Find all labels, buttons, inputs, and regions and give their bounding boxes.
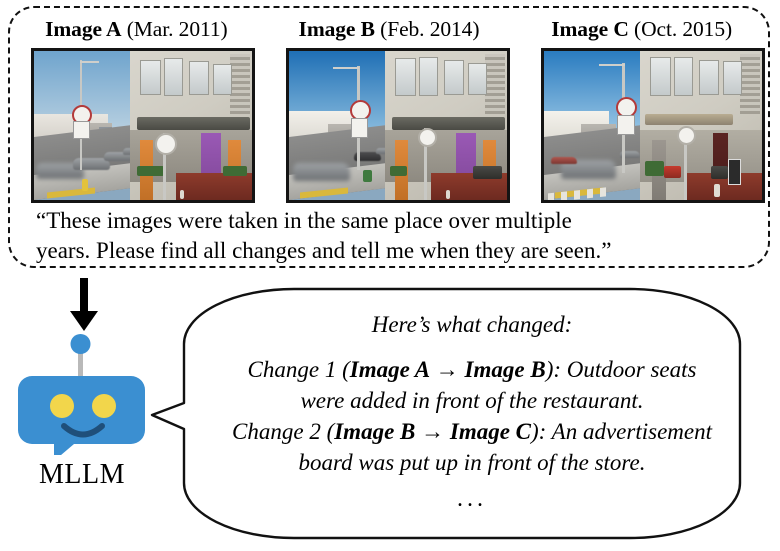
model-label: MLLM (12, 458, 152, 492)
change-2-to: Image C (450, 419, 531, 444)
image-caption-b-name: Image B (299, 17, 375, 41)
outdoor-seats-change (473, 166, 502, 179)
photo-image-c (541, 48, 765, 203)
answer-heading: Here’s what changed: (202, 309, 742, 340)
image-caption-b-date: (Feb. 2014) (380, 17, 479, 41)
change-1-from: Image A (350, 357, 430, 382)
image-caption-a-date: (Mar. 2011) (127, 17, 228, 41)
prompt-question: “These images were taken in the same pla… (36, 206, 748, 266)
image-caption-c-name: Image C (551, 17, 629, 41)
image-caption-c: Image C (Oct. 2015) (515, 16, 768, 42)
change-2-line-2: board was put up in front of the store. (202, 447, 742, 478)
change-2-from: Image B (334, 419, 415, 444)
change-1-arrow: → (436, 357, 459, 382)
robot-icon (12, 330, 152, 455)
image-caption-c-date: (Oct. 2015) (634, 17, 732, 41)
change-2-prefix: Change 2 ( (232, 419, 334, 444)
change-1-to: Image B (465, 357, 546, 382)
change-2-line-1: Change 2 (Image B → Image C): An adverti… (202, 416, 742, 447)
change-2-arrow: → (421, 419, 444, 444)
photo-image-a (31, 48, 255, 203)
change-1-suffix: ): Outdoor seats (546, 357, 697, 382)
advertisement-board-change (728, 159, 741, 185)
down-arrow-icon (66, 278, 102, 332)
answer-speech-bubble: Here’s what changed: Change 1 (Image A →… (150, 287, 772, 540)
change-2-suffix: ): An advertisement (531, 419, 712, 444)
prompt-panel: Image A (Mar. 2011) Image B (Feb. 2014) … (8, 6, 770, 268)
photo-image-b (286, 48, 510, 203)
image-caption-row: Image A (Mar. 2011) Image B (Feb. 2014) … (10, 16, 768, 46)
image-caption-a: Image A (Mar. 2011) (10, 16, 263, 42)
change-1-prefix: Change 1 ( (248, 357, 350, 382)
change-1-line-1: Change 1 (Image A → Image B): Outdoor se… (202, 354, 742, 385)
answer-ellipsis: ... (202, 484, 742, 515)
image-caption-b: Image B (Feb. 2014) (263, 16, 516, 42)
image-caption-a-name: Image A (45, 17, 121, 41)
image-row (31, 48, 765, 203)
change-1-line-2: were added in front of the restaurant. (202, 385, 742, 416)
